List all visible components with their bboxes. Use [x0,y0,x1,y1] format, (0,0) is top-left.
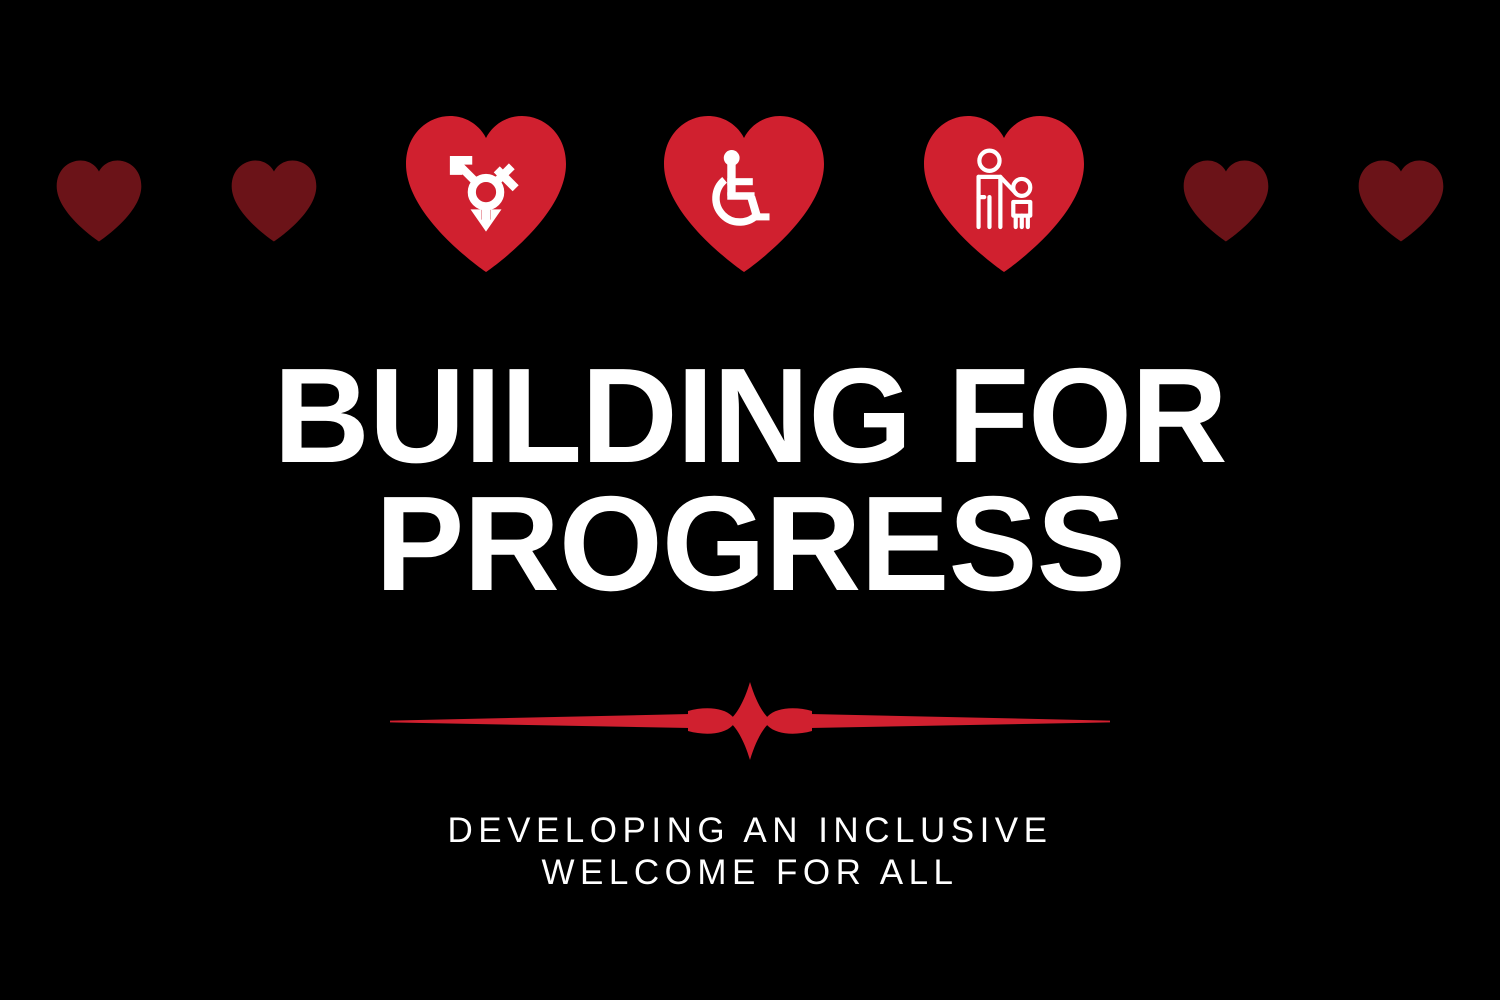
heart-decorative-3 [1180,155,1272,247]
title-line-2: PROGRESS [8,480,1493,608]
heart-transgender [402,114,570,274]
title-line-1: BUILDING FOR [8,352,1493,480]
transgender-symbol-icon [402,114,570,274]
heart-decorative-2 [228,155,320,247]
adult-and-child-icon [920,114,1088,274]
page-subtitle: DEVELOPING AN INCLUSIVE WELCOME FOR ALL [0,810,1500,894]
ornamental-divider [390,680,1110,762]
heart-decorative-4 [1355,155,1447,247]
heart-accessibility [660,114,828,274]
poster-canvas: BUILDING FOR PROGRESS DEVELOPING AN INCL… [0,0,1500,1000]
subtitle-line-1: DEVELOPING AN INCLUSIVE [0,810,1500,852]
wheelchair-accessibility-icon [660,114,828,274]
subtitle-line-2: WELCOME FOR ALL [0,852,1500,894]
heart-family [920,114,1088,274]
hearts-row [0,110,1500,285]
page-title: BUILDING FOR PROGRESS [0,352,1500,608]
heart-decorative-1 [53,155,145,247]
